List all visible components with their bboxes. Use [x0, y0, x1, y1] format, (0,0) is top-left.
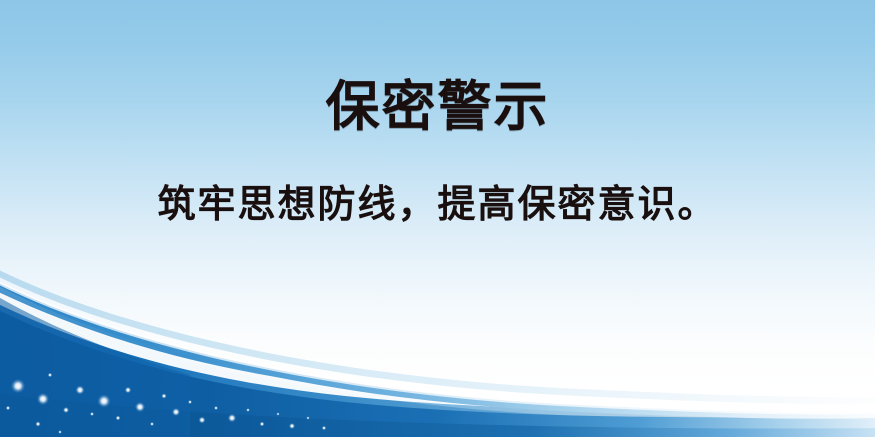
text-content-block: 保密警示 筑牢思想防线，提高保密意识。 — [0, 0, 875, 437]
secrecy-warning-slide: 保密警示 筑牢思想防线，提高保密意识。 — [0, 0, 875, 437]
page-subtitle: 筑牢思想防线，提高保密意识。 — [157, 184, 717, 228]
page-title: 保密警示 — [326, 78, 550, 136]
